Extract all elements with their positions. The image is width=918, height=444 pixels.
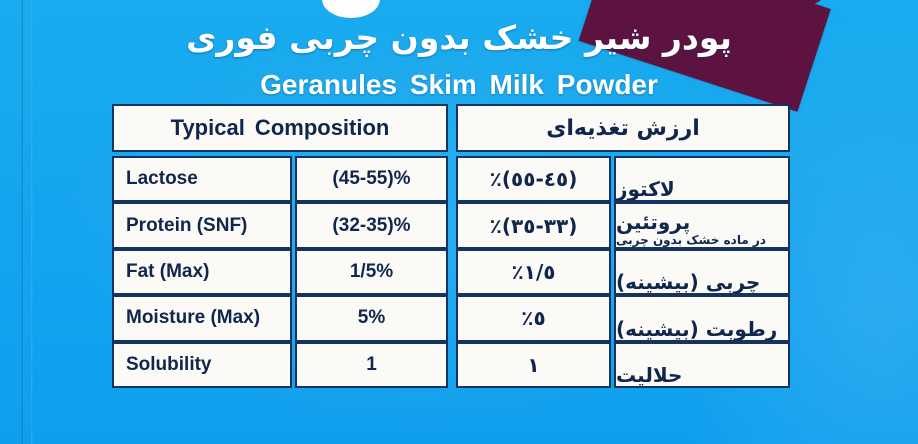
- row-name-persian: پروتئین در ماده خشک بدون چربی: [614, 202, 790, 248]
- row-value-persian: ١/٥٪: [456, 249, 611, 295]
- row-name-english: Lactose: [112, 156, 292, 202]
- row-value-english: 1: [295, 342, 448, 388]
- row-value-persian: (٤٥-٥٥)٪: [456, 156, 611, 202]
- row-name-persian-subtitle: در ماده خشک بدون چربی: [616, 234, 766, 247]
- product-label-screenshot: پودر شیر خشک بدون چربی فوری Geranules Sk…: [0, 0, 918, 444]
- package-fold-crease: [21, 0, 24, 444]
- row-name-english: Protein (SNF): [112, 202, 292, 248]
- row-name-persian-main: لاکتوز: [616, 179, 675, 200]
- product-title-persian: پودر شیر خشک بدون چربی فوری: [0, 18, 918, 57]
- row-value-english: 5%: [295, 295, 448, 341]
- row-name-persian-main: پروتئین: [616, 212, 690, 233]
- row-name-persian-main: رطوبت (بیشینه): [616, 319, 777, 340]
- table-row: Solubility 1 ١ حلالیت: [112, 342, 790, 388]
- table-row: Lactose (45-55)% (٤٥-٥٥)٪ لاکتوز: [112, 156, 790, 202]
- row-name-english: Solubility: [112, 342, 292, 388]
- row-value-english: (32-35)%: [295, 202, 448, 248]
- package-fold-crease-highlight: [31, 0, 33, 444]
- product-title-english: Geranules Skim Milk Powder: [0, 69, 918, 101]
- row-value-english: 1/5%: [295, 249, 448, 295]
- row-value-persian: ١: [456, 342, 611, 388]
- table-row: Protein (SNF) (32-35)% (٣٣-٣٥)٪ پروتئین …: [112, 202, 790, 248]
- row-name-persian: حلالیت: [614, 342, 790, 388]
- row-name-persian: لاکتوز: [614, 156, 790, 202]
- nutrition-spec-table: Typical Composition ارزش تغذیه‌ای Lactos…: [112, 104, 790, 388]
- row-name-persian: رطوبت (بیشینه): [614, 295, 790, 341]
- row-value-english: (45-55)%: [295, 156, 448, 202]
- table-header-row: Typical Composition ارزش تغذیه‌ای: [112, 104, 790, 152]
- header-typical-composition: Typical Composition: [112, 104, 448, 152]
- row-value-persian: (٣٣-٣٥)٪: [456, 202, 611, 248]
- row-name-english: Moisture (Max): [112, 295, 292, 341]
- row-name-persian-main: چربی (بیشینه): [616, 272, 760, 293]
- header-nutritional-value: ارزش تغذیه‌ای: [456, 104, 790, 152]
- row-name-persian-main: حلالیت: [616, 365, 682, 386]
- table-row: Fat (Max) 1/5% ١/٥٪ چربی (بیشینه): [112, 249, 790, 295]
- row-name-persian: چربی (بیشینه): [614, 249, 790, 295]
- table-row: Moisture (Max) 5% ٥٪ رطوبت (بیشینه): [112, 295, 790, 341]
- white-droplet-shape: [322, 0, 380, 18]
- row-value-persian: ٥٪: [456, 295, 611, 341]
- row-name-english: Fat (Max): [112, 249, 292, 295]
